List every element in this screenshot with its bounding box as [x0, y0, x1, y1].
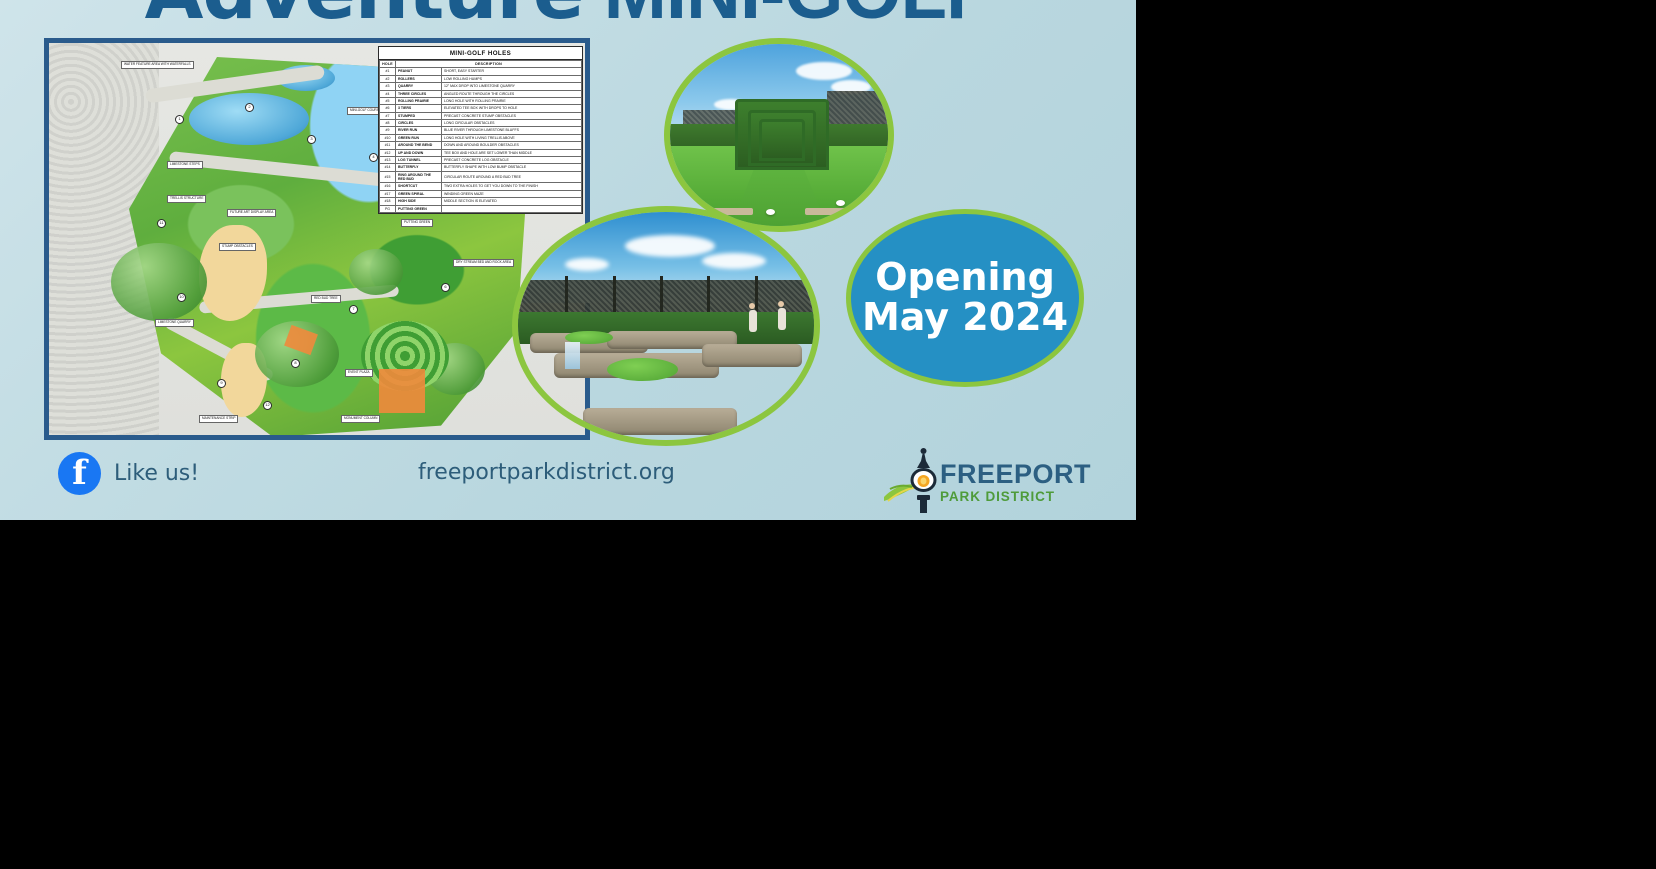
site-plan-label: MONUMENT COLUMN: [341, 415, 380, 423]
page-title: Adventure MINI-GOLF: [0, 0, 1136, 31]
hole-description-cell: LOW ROLLING HUMPS: [442, 75, 582, 82]
cloud-shape: [565, 258, 609, 271]
site-plan-hole-marker: 2: [245, 103, 254, 112]
facebook-block[interactable]: Like us!: [58, 452, 199, 495]
hole-number-cell: #4: [380, 90, 396, 97]
hole-number-cell: #8: [380, 120, 396, 127]
hole-description-cell: CIRCULAR ROUTE AROUND A RED BUD TREE: [442, 171, 582, 183]
hole-description-cell: PRECAST CONCRETE STUMP OBSTACLES: [442, 112, 582, 119]
table-row: #7STUMPEDPRECAST CONCRETE STUMP OBSTACLE…: [380, 112, 582, 119]
hole-name-cell: PEANUT: [396, 68, 442, 75]
hole-name-cell: ROLLING PRAIRIE: [396, 97, 442, 104]
hole-number-cell: #7: [380, 112, 396, 119]
hole-description-cell: LONG HOLE WITH ROLLING PRAIRIE: [442, 97, 582, 104]
hole-name-cell: ROLLERS: [396, 75, 442, 82]
cloud-shape: [625, 235, 715, 257]
table-row: #13LOG TUNNELPRECAST CONCRETE LOG OBSTAC…: [380, 156, 582, 163]
site-plan-plaza-1: [379, 369, 425, 413]
website-url[interactable]: freeportparkdistrict.org: [418, 460, 675, 485]
title-mini-golf: MINI-GOLF: [604, 0, 992, 35]
site-plan-label: RED BUD TREE: [311, 295, 341, 303]
table-row: #4THREE CIRCLESANGLED ROUTE THROUGH THE …: [380, 90, 582, 97]
hole-name-cell: GREEN SPIRAL: [396, 190, 442, 197]
screen-canvas: Adventure MINI-GOLF WATER FEATURE AREA: [0, 0, 1656, 869]
hole-name-cell: SHORTCUT: [396, 183, 442, 190]
opening-badge-line2: May 2024: [862, 298, 1068, 338]
site-plan-label: STUMP OBSTACLES: [219, 243, 256, 251]
hole-number-cell: #18: [380, 198, 396, 205]
table-row: #14BUTTERFLYBUTTERFLY SHAPE WITH LOW BUM…: [380, 164, 582, 171]
hole-name-cell: PUTTING GREEN: [396, 205, 442, 212]
mini-golf-flyer: Adventure MINI-GOLF WATER FEATURE AREA: [0, 0, 1136, 520]
holes-table-body: #1PEANUTSHORT, EASY STARTER#2ROLLERSLOW …: [380, 68, 582, 213]
hole-number-cell: #14: [380, 164, 396, 171]
hole-description-cell: BUTTERFLY SHAPE WITH LOW BUMP OBSTACLE: [442, 164, 582, 171]
site-plan-label: MAINTENANCE STRIP: [199, 415, 238, 423]
hole-description-cell: WINDING GREEN MAZE: [442, 190, 582, 197]
hole-description-cell: SHORT, EASY STARTER: [442, 68, 582, 75]
holes-table-col-description: DESCRIPTION: [396, 61, 582, 68]
waterfall: [565, 342, 580, 369]
golfer-body: [749, 310, 757, 332]
opening-date-badge: Opening May 2024: [846, 209, 1084, 387]
golf-ball: [836, 200, 845, 206]
site-plan-label: LIMESTONE QUARRY: [155, 319, 194, 327]
site-plan-hole-marker: 8: [291, 359, 300, 368]
site-plan-hole-marker: 3: [307, 135, 316, 144]
golfer-head: [749, 303, 755, 309]
site-plan-label: DRY STREAM BED AND ROCK AREA: [453, 259, 514, 267]
table-row: #16SHORTCUTTWO EXTRA HOLES TO GET YOU DO…: [380, 183, 582, 190]
hole-description-cell: DOWN AND AROUND BOULDER OBSTACLES: [442, 142, 582, 149]
table-row: #17GREEN SPIRALWINDING GREEN MAZE: [380, 190, 582, 197]
site-plan-hole-marker: 7: [349, 305, 358, 314]
photo-trellis-hole: [664, 38, 894, 232]
golfer-head: [778, 301, 784, 307]
hole-description-cell: ANGLED ROUTE THROUGH THE CIRCLES: [442, 90, 582, 97]
hole-number-cell: #16: [380, 183, 396, 190]
site-plan-label: FUTURE ART DISPLAY AREA: [227, 209, 276, 217]
table-row: #3QUARRY12" MAX DROP INTO LIMESTONE QUAR…: [380, 83, 582, 90]
hole-number-cell: #6: [380, 105, 396, 112]
hole-name-cell: AROUND THE BEND: [396, 142, 442, 149]
site-plan-label: TRELLIS STRUCTURE: [167, 195, 206, 203]
golfer-body: [778, 308, 786, 330]
golfer-figure: [749, 303, 757, 332]
table-row: #1PEANUTSHORT, EASY STARTER: [380, 68, 582, 75]
hole-number-cell: #10: [380, 134, 396, 141]
hole-name-cell: LOG TUNNEL: [396, 156, 442, 163]
lamppost-leaf-icon: [878, 445, 948, 513]
hole-number-cell: #2: [380, 75, 396, 82]
hole-description-cell: 12" MAX DROP INTO LIMESTONE QUARRY: [442, 83, 582, 90]
site-plan-tree-cluster-1: [111, 243, 207, 321]
hole-number-cell: #12: [380, 149, 396, 156]
photo-water-feature-hole: [512, 206, 820, 446]
site-plan-label: EVENT PLAZA: [345, 369, 373, 377]
hole-number-cell: #9: [380, 127, 396, 134]
site-plan-hole-marker: 10: [177, 293, 186, 302]
mini-golf-holes-table: MINI-GOLF HOLES HOLE DESCRIPTION #1PEANU…: [378, 46, 583, 214]
hole-name-cell: THREE CIRCLES: [396, 90, 442, 97]
site-plan-label: LIMESTONE STEPS: [167, 161, 203, 169]
logo-name: FREEPORT: [940, 461, 1091, 488]
putting-green-island: [607, 358, 678, 381]
table-row: #18HIGH SIDEMIDDLE SECTION IS ELEVATED: [380, 198, 582, 205]
site-plan-hole-marker: 12: [263, 401, 272, 410]
golfer-figure: [778, 301, 786, 330]
hole-description-cell: LONG CIRCULAR OBSTACLES: [442, 120, 582, 127]
hole-description-cell: ELEVATED TEE BOX WITH DROPS TO HOLE: [442, 105, 582, 112]
facebook-label: Like us!: [114, 461, 199, 486]
hole-description-cell: MIDDLE SECTION IS ELEVATED: [442, 198, 582, 205]
logo-subtitle: PARK DISTRICT: [940, 490, 1091, 504]
limestone-rock: [583, 408, 737, 435]
table-row: #15RING AROUND THE RED BUDCIRCULAR ROUTE…: [380, 171, 582, 183]
hole-number-cell: #13: [380, 156, 396, 163]
table-row: #11AROUND THE BENDDOWN AND AROUND BOULDE…: [380, 142, 582, 149]
trellis-arch: [759, 119, 804, 161]
holes-table-grid: HOLE DESCRIPTION #1PEANUTSHORT, EASY STA…: [379, 60, 582, 213]
table-row: #12UP AND DOWNTEE BOX AND HOLE ARE SET L…: [380, 149, 582, 156]
site-plan-hole-marker: 1: [175, 115, 184, 124]
site-plan-hole-marker: 9: [217, 379, 226, 388]
holes-table-header-row: HOLE DESCRIPTION: [380, 61, 582, 68]
hole-number-cell: #11: [380, 142, 396, 149]
site-plan-tree-cluster-3: [349, 249, 403, 295]
hole-name-cell: BUTTERFLY: [396, 164, 442, 171]
hole-name-cell: QUARRY: [396, 83, 442, 90]
hole-number-cell: #1: [380, 68, 396, 75]
table-row: #63 TIERSELEVATED TEE BOX WITH DROPS TO …: [380, 105, 582, 112]
hole-number-cell: PG: [380, 205, 396, 212]
hole-name-cell: HIGH SIDE: [396, 198, 442, 205]
holes-table-title: MINI-GOLF HOLES: [379, 47, 582, 60]
table-row: #5ROLLING PRAIRIELONG HOLE WITH ROLLING …: [380, 97, 582, 104]
table-row: #8CIRCLESLONG CIRCULAR OBSTACLES: [380, 120, 582, 127]
table-row: #2ROLLERSLOW ROLLING HUMPS: [380, 75, 582, 82]
hole-number-cell: #17: [380, 190, 396, 197]
logo-text-block: FREEPORT PARK DISTRICT: [940, 461, 1091, 504]
freeport-park-district-logo: FREEPORT PARK DISTRICT: [878, 445, 1078, 513]
site-plan-hole-marker: 11: [157, 219, 166, 228]
hole-description-cell: LONG HOLE WITH LIVING TRELLIS ABOVE: [442, 134, 582, 141]
table-row: #10GREEN RUNLONG HOLE WITH LIVING TRELLI…: [380, 134, 582, 141]
site-plan-pond: [189, 93, 309, 145]
hole-description-cell: TWO EXTRA HOLES TO GET YOU DOWN TO THE F…: [442, 183, 582, 190]
flyer-footer: Like us! freeportparkdistrict.org: [0, 442, 1136, 520]
opening-badge-line1: Opening: [875, 258, 1055, 298]
site-plan-label: PUTTING GREEN: [401, 219, 433, 227]
hole-number-cell: #3: [380, 83, 396, 90]
trellis-illustration: [670, 44, 888, 226]
cloud-shape: [702, 253, 766, 269]
hole-name-cell: STUMPED: [396, 112, 442, 119]
hole-name-cell: RIVER RUN: [396, 127, 442, 134]
title-adventure: Adventure: [145, 0, 584, 36]
site-plan-label: WATER FEATURE AREA WITH WATERFALLS: [121, 61, 194, 69]
hole-name-cell: RING AROUND THE RED BUD: [396, 171, 442, 183]
water-feature-illustration: [518, 212, 814, 440]
hole-description-cell: BLUE RIVER THROUGH LIMESTONE BLUFFS: [442, 127, 582, 134]
site-plan-hole-marker: 6: [441, 283, 450, 292]
holes-table-col-hole: HOLE: [380, 61, 396, 68]
hole-name-cell: CIRCLES: [396, 120, 442, 127]
limestone-rock: [702, 344, 803, 367]
hole-name-cell: GREEN RUN: [396, 134, 442, 141]
hole-name-cell: 3 TIERS: [396, 105, 442, 112]
site-plan-hole-marker: 4: [369, 153, 378, 162]
hole-number-cell: #5: [380, 97, 396, 104]
hole-description-cell: TEE BOX AND HOLE ARE SET LOWER THAN MIDD…: [442, 149, 582, 156]
hole-number-cell: #15: [380, 171, 396, 183]
hole-name-cell: UP AND DOWN: [396, 149, 442, 156]
hole-description-cell: PRECAST CONCRETE LOG OBSTACLE: [442, 156, 582, 163]
table-row: #9RIVER RUNBLUE RIVER THROUGH LIMESTONE …: [380, 127, 582, 134]
facebook-icon[interactable]: [58, 452, 101, 495]
